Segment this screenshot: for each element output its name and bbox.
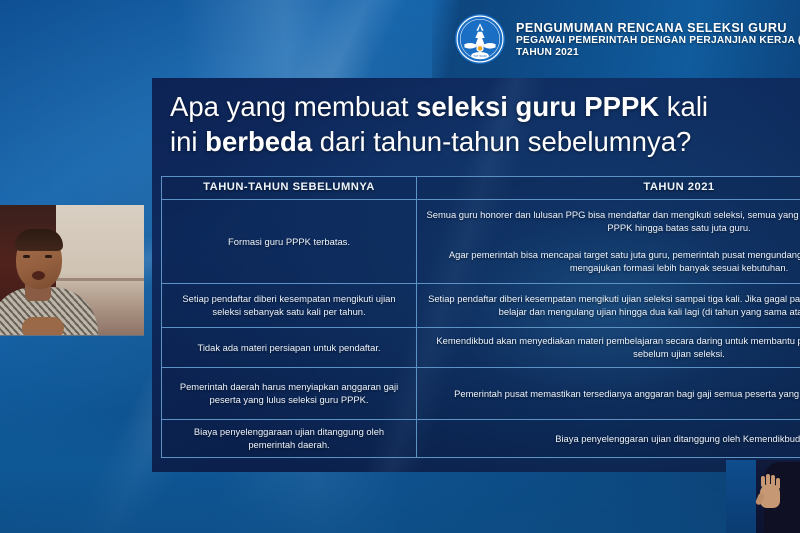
interpreter-finger-2 (766, 474, 770, 485)
comparison-table-head: TAHUN-TAHUN SEBELUMNYA TAHUN 2021 (162, 177, 800, 200)
interpreter-finger-4 (776, 478, 780, 489)
svg-text:TUT WURI: TUT WURI (473, 54, 487, 58)
table-cell-left-4: Pemerintah daerah harus menyiapkan angga… (162, 367, 417, 419)
banner-title-line-3: TAHUN 2021 (516, 47, 800, 59)
webcam-background-seam (56, 278, 144, 281)
presenter-eye-right (45, 255, 52, 258)
sign-language-interpreter[interactable] (726, 460, 800, 533)
table-cell-left-5: Biaya penyelenggaraan ujian ditanggung o… (162, 419, 417, 457)
slide-heading-line-1: Apa yang membuat seleksi guru PPPK kali (170, 89, 800, 124)
slide-heading-line-2: ini berbeda dari tahun-tahun sebelumnya? (170, 124, 800, 159)
banner-title-line-1: PENGUMUMAN RENCANA SELEKSI GURU (516, 21, 800, 36)
table-row: Setiap pendaftar diberi kesempatan mengi… (162, 283, 800, 327)
comparison-table: TAHUN-TAHUN SEBELUMNYA TAHUN 2021 Formas… (161, 176, 800, 458)
table-cell-left-2: Setiap pendaftar diberi kesempatan mengi… (162, 283, 417, 327)
table-row: Pemerintah daerah harus menyiapkan angga… (162, 367, 800, 419)
interpreter-panel-blue (726, 460, 756, 533)
table-header-previous-years: TAHUN-TAHUN SEBELUMNYA (162, 177, 417, 200)
heading-text-2a: ini (170, 126, 205, 157)
heading-text-1a: Apa yang membuat (170, 91, 416, 122)
table-cell-right-1: Semua guru honorer dan lulusan PPG bisa … (417, 199, 800, 283)
slide-heading: Apa yang membuat seleksi guru PPPK kali … (170, 89, 800, 159)
presenter-eye-left (23, 255, 30, 258)
presenter-hair (15, 229, 63, 251)
interpreter-finger-1 (761, 476, 765, 487)
heading-text-2b: berbeda (205, 126, 312, 157)
table-cell-right-4: Pemerintah pusat memastikan tersedianya … (417, 367, 800, 419)
tut-wuri-handayani-logo-icon: TUT WURI (454, 13, 506, 65)
table-cell-right-3: Kemendikbud akan menyediakan materi pemb… (417, 327, 800, 367)
table-header-row: TAHUN-TAHUN SEBELUMNYA TAHUN 2021 (162, 177, 800, 200)
table-header-year-2021: TAHUN 2021 (417, 177, 800, 200)
table-row: Biaya penyelenggaraan ujian ditanggung o… (162, 419, 800, 457)
broadcast-header-banner: TUT WURI PENGUMUMAN RENCANA SELEKSI GURU… (432, 0, 800, 78)
heading-text-1c: kali (659, 91, 708, 122)
banner-title-line-2: PEGAWAI PEMERINTAH DENGAN PERJANJIAN KER… (516, 35, 800, 47)
heading-text-2c: dari tahun-tahun sebelumnya? (312, 126, 691, 157)
presenter-video-feed[interactable] (0, 205, 144, 336)
presenter-mouth (32, 271, 45, 280)
broadcast-screen: TUT WURI PENGUMUMAN RENCANA SELEKSI GURU… (0, 0, 800, 533)
table-cell-right-5: Biaya penyelenggaran ujian ditanggung ol… (417, 419, 800, 457)
presentation-slide: Apa yang membuat seleksi guru PPPK kali … (152, 78, 800, 472)
presenter-hands (22, 317, 64, 336)
interpreter-finger-3 (771, 475, 775, 486)
heading-text-1b: seleksi guru PPPK (416, 91, 659, 122)
table-row: Formasi guru PPPK terbatas. Semua guru h… (162, 199, 800, 283)
table-cell-right-2: Setiap pendaftar diberi kesempatan mengi… (417, 283, 800, 327)
table-cell-left-3: Tidak ada materi persiapan untuk pendaft… (162, 327, 417, 367)
banner-text-block: PENGUMUMAN RENCANA SELEKSI GURU PEGAWAI … (516, 19, 800, 60)
table-cell-left-1: Formasi guru PPPK terbatas. (162, 199, 417, 283)
comparison-table-body: Formasi guru PPPK terbatas. Semua guru h… (162, 199, 800, 457)
table-row: Tidak ada materi persiapan untuk pendaft… (162, 327, 800, 367)
